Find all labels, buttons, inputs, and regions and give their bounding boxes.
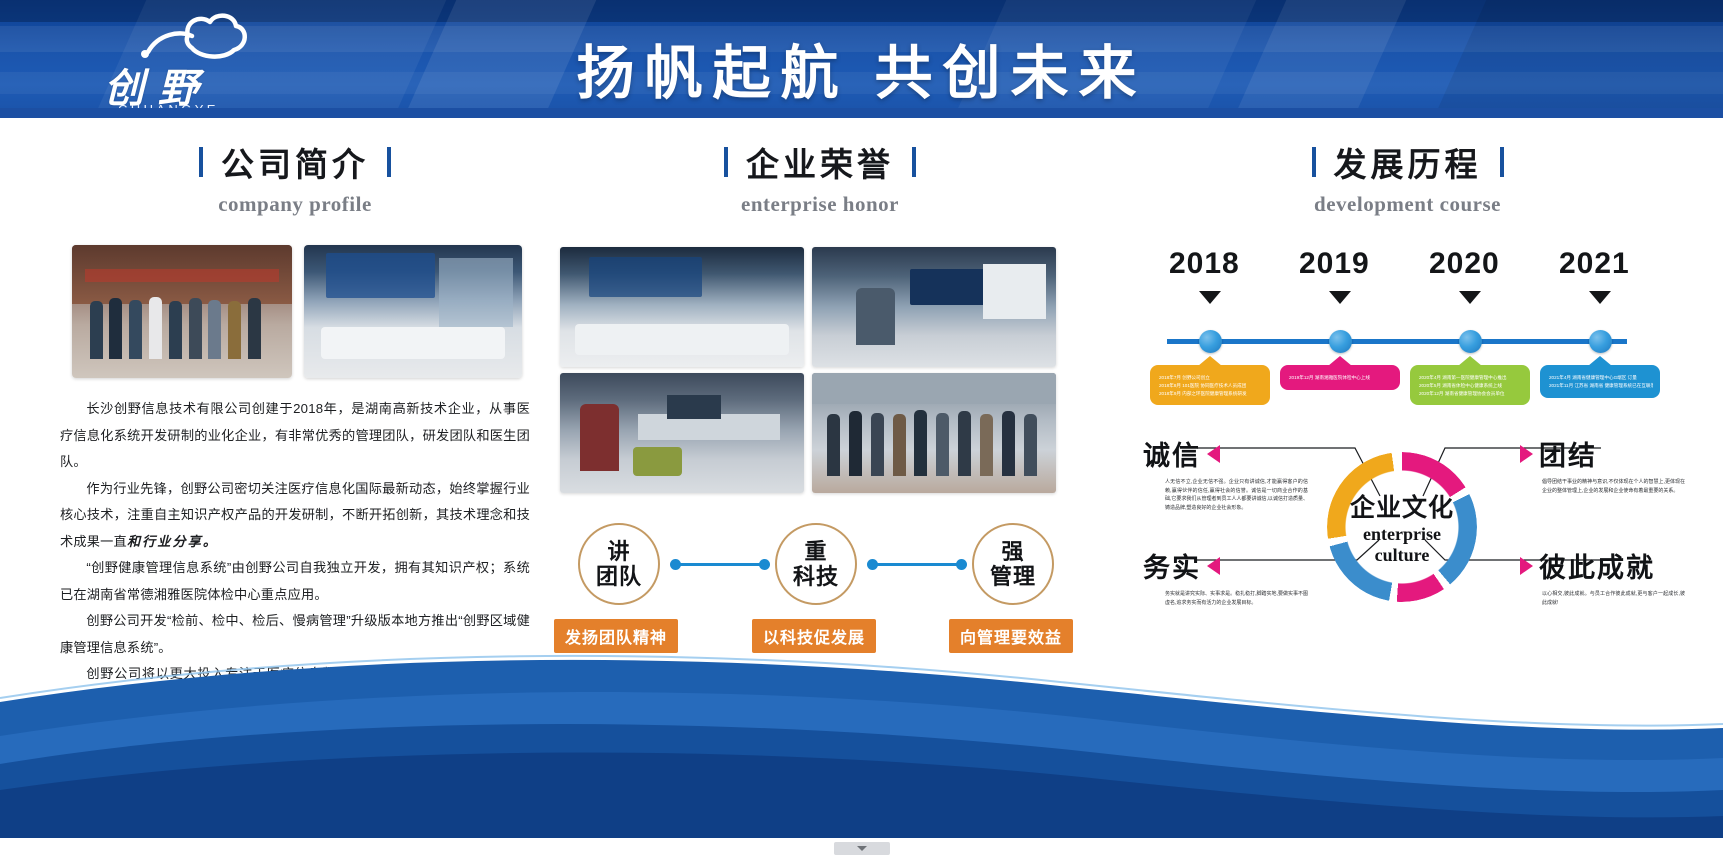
- course-title-text: 发展历程: [1334, 138, 1482, 186]
- timeline-card-1-line-1: 2018年7月 创野公司创立: [1159, 374, 1263, 382]
- culture-item-2-body: 倡导团结干事业的精神与意识,不仅体现在个人的智慧上,更体现在企业的整体管理上,企…: [1520, 478, 1685, 495]
- culture-item-mutual-achievement: 彼此成就 以心相交,彼此成就。与员工合作彼此成就,更与客户一起成长,彼此成就!: [1520, 546, 1685, 607]
- culture-wall-poster: 创野 CHUANGYE 扬帆起航 共创未来 公司简介 company profi…: [0, 0, 1723, 860]
- culture-ring-label: 企业文化 enterprise culture: [1327, 452, 1477, 602]
- photo-overlay: [72, 245, 292, 378]
- culture-center-en-1: enterprise: [1363, 524, 1441, 545]
- timeline-card-2021: 2021年4月 湖南省健康管理中心G端区 订量 2021年11月 江苏省 湖南省…: [1540, 365, 1660, 398]
- culture-item-3-title: 务实: [1143, 546, 1201, 585]
- flow-circle-3-line2: 管理: [990, 564, 1036, 589]
- heading-bar-right: [912, 147, 916, 177]
- triangle-right-icon: [1520, 557, 1533, 575]
- profile-title-text: 公司简介: [221, 138, 369, 186]
- course-heading-cn: 发展历程: [1312, 138, 1504, 186]
- culture-item-1-title-row: 诚信: [1143, 434, 1308, 473]
- photo-overlay: [812, 247, 1056, 367]
- culture-diagram: 企业文化 enterprise culture 诚信 人无信不立,企业无信不强。…: [1135, 434, 1665, 649]
- flow-circle-3-line1: 强: [1001, 539, 1024, 564]
- timeline-arrow-1: [1199, 291, 1221, 304]
- culture-item-4-title-row: 彼此成就: [1520, 546, 1685, 585]
- culture-ring: 企业文化 enterprise culture: [1327, 452, 1477, 602]
- flow-dot-1a: [670, 559, 681, 570]
- flow-dot-1b: [759, 559, 770, 570]
- profile-photo-office: [304, 245, 522, 378]
- timeline-card-1-line-2: 2018年8月 101医院 协同医疗技术人员成团: [1159, 382, 1263, 390]
- timeline-card-2018: 2018年7月 创野公司创立 2018年8月 101医院 协同医疗技术人员成团 …: [1150, 365, 1270, 405]
- timeline-year-2020: 2020: [1429, 247, 1500, 281]
- flow-circle-tech: 重 科技: [775, 523, 857, 605]
- flow-connector-1: [675, 563, 765, 566]
- culture-item-1-body: 人无信不立,企业无信不强。企业只有讲诚信,才能赢得客户的信赖,赢得伙伴的信任,赢…: [1143, 478, 1308, 512]
- profile-heading: 公司简介 company profile: [60, 138, 530, 217]
- header-banner: 创野 CHUANGYE 扬帆起航 共创未来: [0, 0, 1723, 118]
- honor-heading-cn: 企业荣誉: [724, 138, 916, 186]
- photo-overlay: [560, 247, 804, 367]
- triangle-right-icon: [1520, 445, 1533, 463]
- timeline-card-4-line-2: 2021年11月 江苏省 湖南省 健康管理系统已在互联落地和布局: [1549, 382, 1653, 390]
- heading-bar-left: [724, 147, 728, 177]
- culture-item-integrity: 诚信 人无信不立,企业无信不强。企业只有讲诚信,才能赢得客户的信赖,赢得伙伴的信…: [1143, 434, 1308, 512]
- photo-overlay: [560, 373, 804, 493]
- triangle-left-icon: [1207, 557, 1220, 575]
- heading-bar-left: [1312, 147, 1316, 177]
- photo-overlay: [304, 245, 522, 378]
- flow-connector-2: [872, 563, 962, 566]
- culture-item-1-title: 诚信: [1143, 434, 1201, 473]
- timeline-arrow-4: [1589, 291, 1611, 304]
- culture-item-unity: 团结 倡导团结干事业的精神与意识,不仅体现在个人的智慧上,更体现在企业的整体管理…: [1520, 434, 1685, 495]
- culture-item-4-body: 以心相交,彼此成就。与员工合作彼此成就,更与客户一起成长,彼此成就!: [1520, 590, 1685, 607]
- profile-paragraph-1: 长沙创野信息技术有限公司创建于2018年，是湖南高新技术企业，从事医疗信息化系统…: [60, 396, 530, 476]
- culture-center-cn: 企业文化: [1350, 488, 1454, 524]
- banner-bottom-edge: [0, 108, 1723, 118]
- flow-circle-2-line1: 重: [804, 539, 827, 564]
- timeline-year-2019: 2019: [1299, 247, 1370, 281]
- section-enterprise-honor: 企业荣誉 enterprise honor: [560, 138, 1080, 643]
- culture-item-2-title-row: 团结: [1520, 434, 1685, 473]
- timeline-year-2018: 2018: [1169, 247, 1240, 281]
- flow-dot-2a: [867, 559, 878, 570]
- timeline-card-4-line-1: 2021年4月 湖南省健康管理中心G端区 订量: [1549, 374, 1653, 382]
- honor-flow-diagram: 讲 团队 重 科技 强 管理 发扬团队精神 以科技促发展 向管理要效益: [560, 523, 1072, 643]
- profile-photo-team: [72, 245, 292, 378]
- flow-circle-management: 强 管理: [972, 523, 1054, 605]
- course-heading: 发展历程 development course: [1135, 138, 1680, 217]
- honor-heading: 企业荣誉 enterprise honor: [560, 138, 1080, 217]
- profile-photo-group: [60, 245, 530, 382]
- flow-circle-2-line2: 科技: [793, 564, 839, 589]
- culture-item-3-title-row: 务实: [1143, 546, 1308, 585]
- heading-bar-right: [387, 147, 391, 177]
- culture-item-3-body: 务实就是讲究实际、实事求是。稳扎稳打,脚踏实地,要做实事不图虚名,追求务实而有活…: [1143, 590, 1308, 607]
- profile-handwrite-note: 和行业分享。: [127, 534, 218, 549]
- timeline-card-3-line-2: 2020年5月 湖南省体检中心健康系统上线: [1419, 382, 1523, 390]
- honor-photo-2: [812, 247, 1056, 367]
- timeline-arrow-3: [1459, 291, 1481, 304]
- footer-wave-graphic: [0, 640, 1723, 860]
- timeline-card-2-line-1: 2019年12月 湖南湘雅医院体检中心上线: [1289, 374, 1393, 382]
- timeline-card-2020: 2020年4月 湖南第一医院健康管理中心推出 2020年5月 湖南省体检中心健康…: [1410, 365, 1530, 405]
- timeline-node-3: [1459, 330, 1482, 353]
- honor-title-text: 企业荣誉: [746, 138, 894, 186]
- profile-heading-cn: 公司简介: [199, 138, 391, 186]
- heading-bar-left: [199, 147, 203, 177]
- development-timeline: 2018 2019 2020 2021 2018年7月 创野公司创立 2018年…: [1135, 247, 1655, 422]
- body-area: 公司简介 company profile: [0, 118, 1723, 678]
- timeline-card-1-line-3: 2018年9月 内部之环医院健康管理系统研发: [1159, 390, 1263, 398]
- timeline-arrow-2: [1329, 291, 1351, 304]
- profile-paragraph-3: “创野健康管理信息系统”由创野公司自我独立开发，拥有其知识产权；系统已在湖南省常…: [60, 555, 530, 608]
- banner-title: 扬帆起航 共创未来: [0, 26, 1723, 110]
- section-development-course: 发展历程 development course 2018 2019 2020 2…: [1135, 138, 1680, 649]
- triangle-left-icon: [1207, 445, 1220, 463]
- scroll-down-indicator[interactable]: [834, 842, 890, 855]
- flow-circle-team: 讲 团队: [578, 523, 660, 605]
- heading-bar-right: [1500, 147, 1504, 177]
- profile-paragraph-2: 作为行业先锋，创野公司密切关注医疗信息化国际最新动态，始终掌握行业核心技术，注重…: [60, 476, 530, 556]
- profile-heading-en: company profile: [60, 192, 530, 217]
- timeline-year-2021: 2021: [1559, 247, 1630, 281]
- timeline-node-1: [1199, 330, 1222, 353]
- honor-heading-en: enterprise honor: [560, 192, 1080, 217]
- honor-photo-1: [560, 247, 804, 367]
- flow-circle-1-line1: 讲: [607, 539, 630, 564]
- timeline-card-3-line-1: 2020年4月 湖南第一医院健康管理中心推出: [1419, 374, 1523, 382]
- timeline-card-3-line-3: 2020年12月 湖南省健康管理协会会员单位: [1419, 390, 1523, 398]
- flow-circle-1-line2: 团队: [596, 564, 642, 589]
- timeline-node-4: [1589, 330, 1612, 353]
- culture-item-4-title: 彼此成就: [1539, 546, 1655, 585]
- flow-dot-2b: [956, 559, 967, 570]
- honor-photo-3: [560, 373, 804, 493]
- honor-photo-grid: [560, 247, 1072, 493]
- honor-photo-4: [812, 373, 1056, 493]
- photo-overlay: [812, 373, 1056, 493]
- section-company-profile: 公司简介 company profile: [60, 138, 530, 714]
- course-heading-en: development course: [1135, 192, 1680, 217]
- timeline-card-2019: 2019年12月 湖南湘雅医院体检中心上线: [1280, 365, 1400, 390]
- timeline-node-2: [1329, 330, 1352, 353]
- culture-center-en-2: culture: [1375, 545, 1430, 566]
- timeline-axis: [1167, 339, 1627, 344]
- culture-item-2-title: 团结: [1539, 434, 1597, 473]
- culture-item-pragmatism: 务实 务实就是讲究实际、实事求是。稳扎稳打,脚踏实地,要做实事不图虚名,追求务实…: [1143, 546, 1308, 607]
